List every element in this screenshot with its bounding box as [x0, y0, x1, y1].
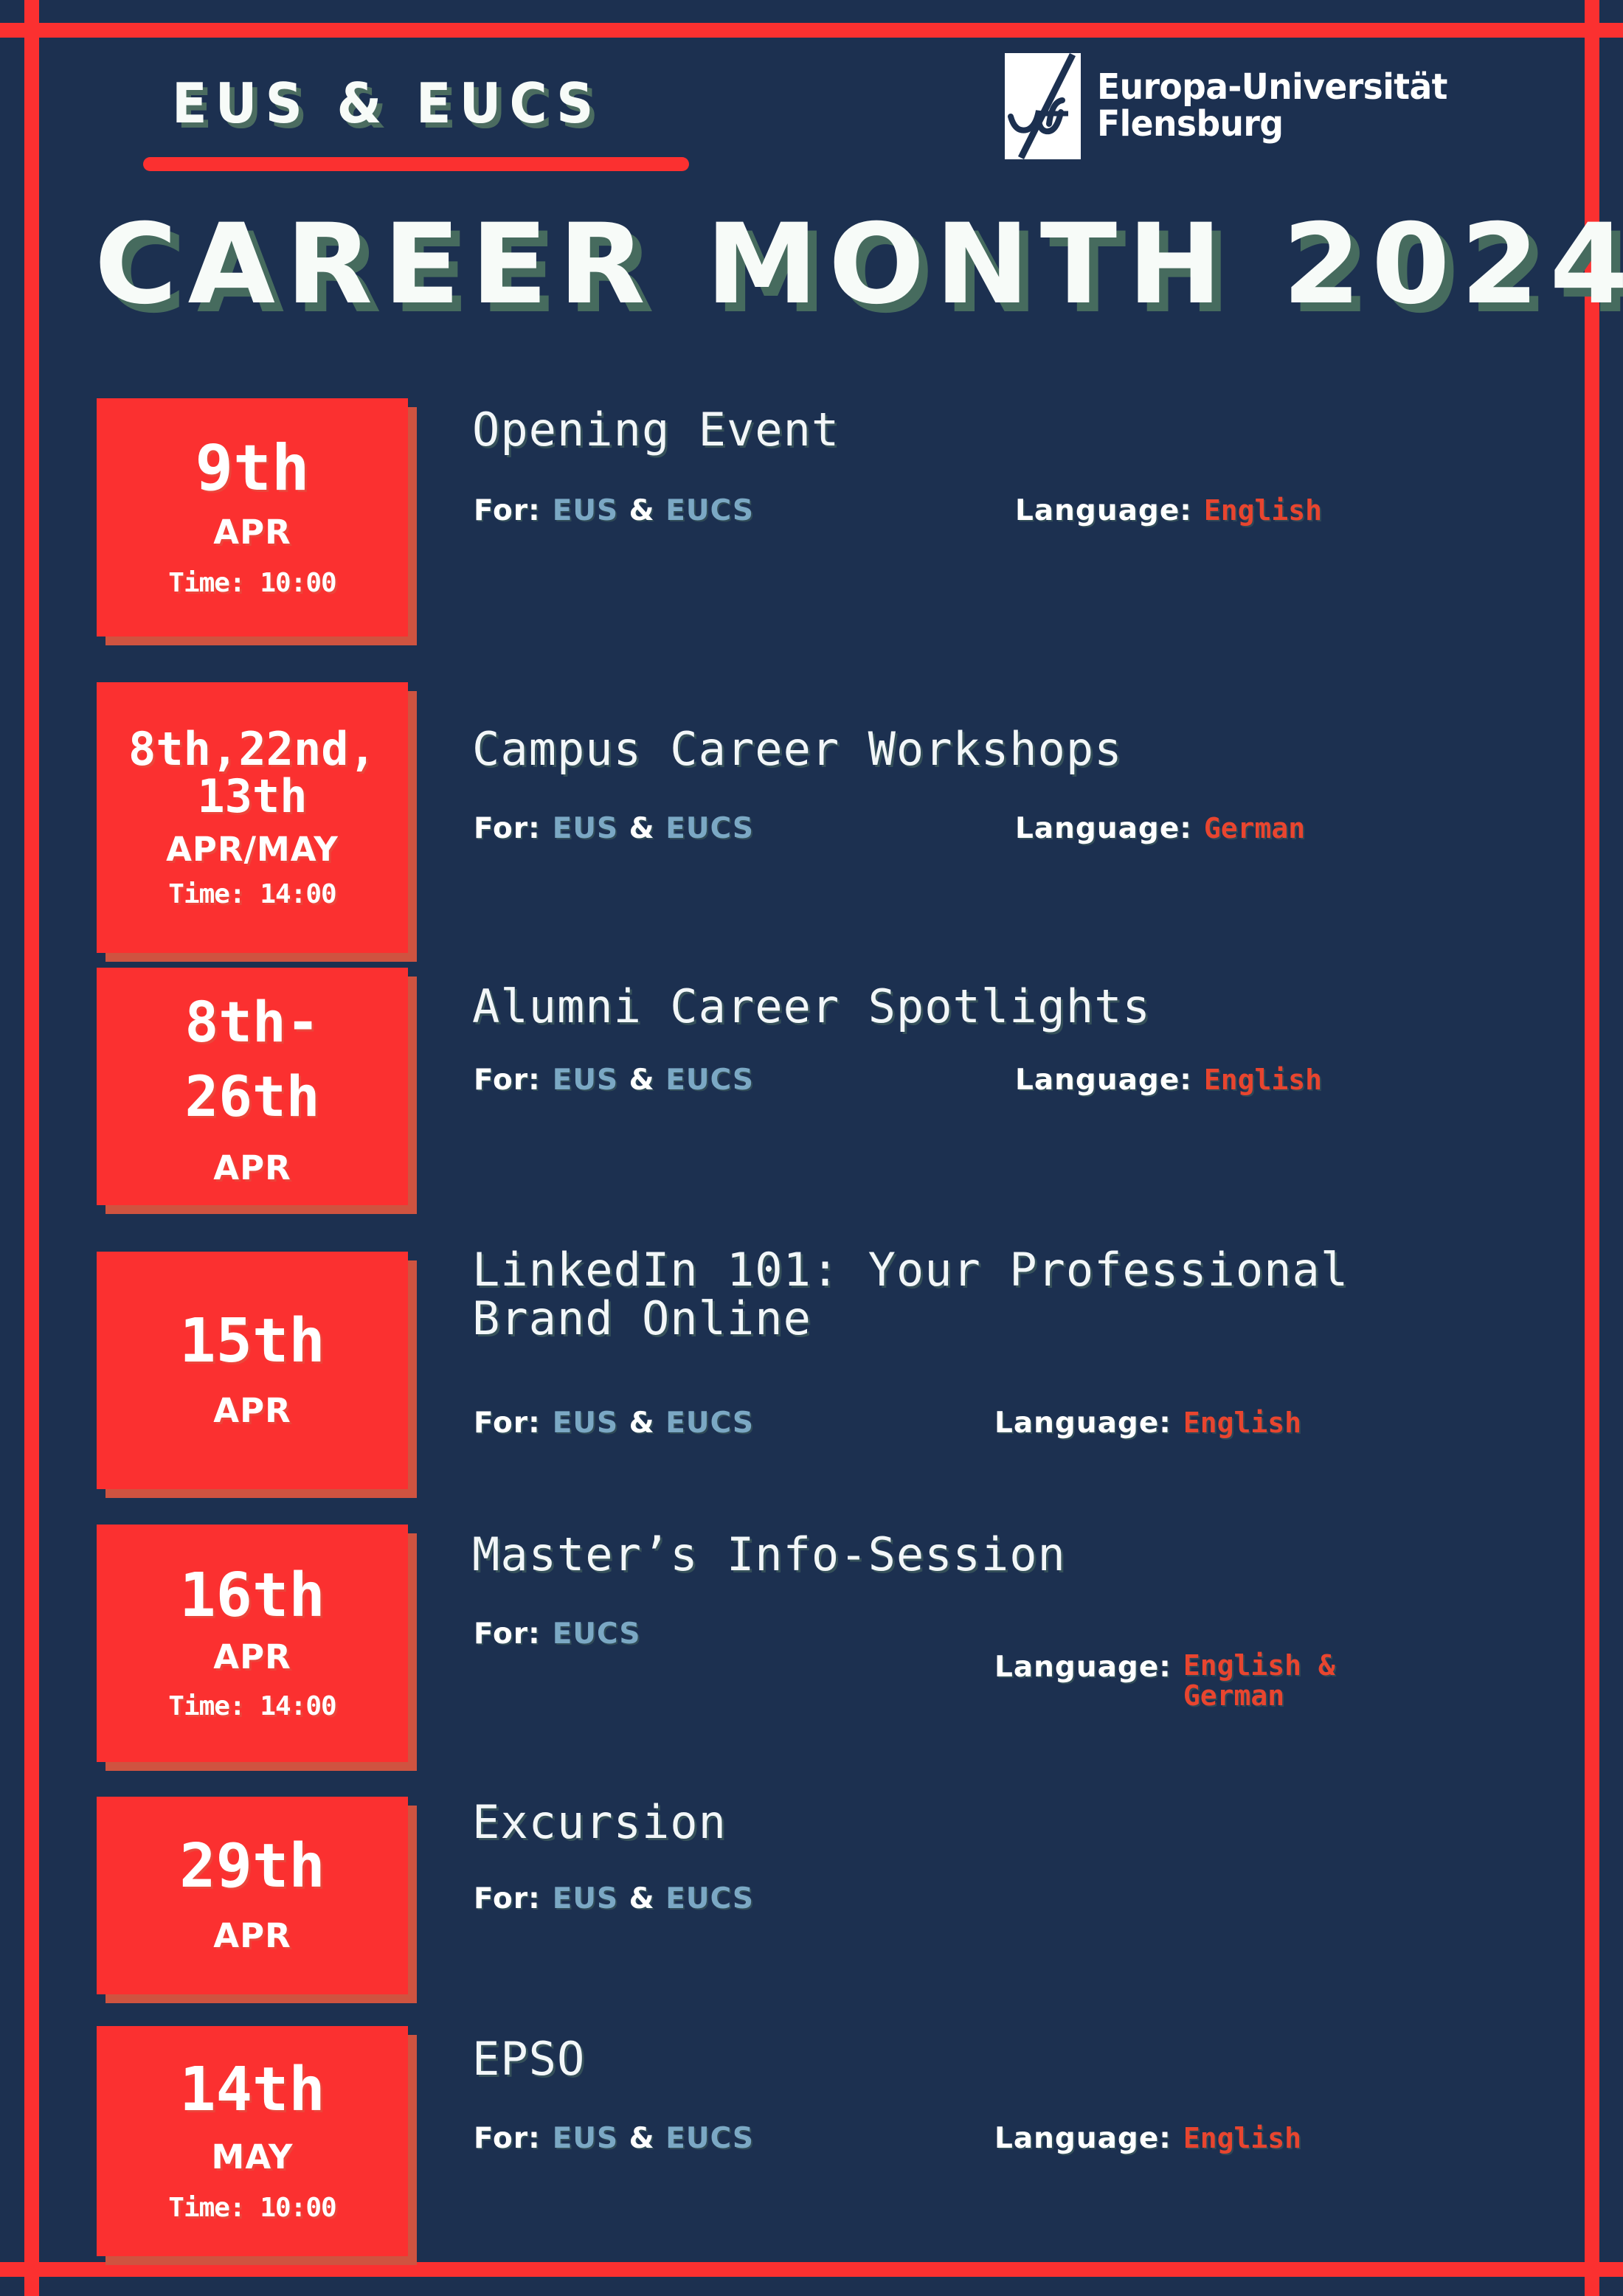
language-label: Language: [994, 2122, 1172, 2155]
language-value: English [1204, 496, 1322, 526]
for-label: For: [474, 1407, 541, 1440]
language-label: Language: [994, 1407, 1172, 1440]
event-body: Excursion For: EUS & EUCS [472, 1798, 1564, 1847]
badge-day: 16th [179, 1565, 325, 1627]
date-badge: 14th MAY Time: 10:00 [97, 2026, 408, 2256]
event-audience: For: EUS & EUCS [474, 1064, 754, 1097]
audience-value: EUS & EUCS [553, 812, 754, 845]
language-value: German [1204, 814, 1305, 844]
event-body: Opening Event For: EUS & EUCS Language: … [472, 406, 1564, 454]
language-label: Language: [994, 1651, 1172, 1684]
language-value: English [1183, 2123, 1301, 2154]
event-language: Language: English [994, 2122, 1301, 2155]
event-body: Campus Career Workshops For: EUS & EUCS … [472, 725, 1564, 774]
event-body: LinkedIn 101: Your Professional Brand On… [472, 1246, 1564, 1342]
event-body: Alumni Career Spotlights For: EUS & EUCS… [472, 982, 1564, 1031]
badge-month: APR [213, 1916, 291, 1955]
badge-month: APR [213, 1637, 291, 1676]
poster-canvas: EUS & EUCS Europa-UniversitätFlensburg C… [0, 0, 1623, 2296]
language-value: English [1183, 1408, 1301, 1438]
badge-day: 29th [179, 1836, 325, 1898]
audience-value: EUS & EUCS [553, 1882, 754, 1915]
event-title: Opening Event [472, 406, 1564, 454]
badge-day: 8th,22nd, 13th [128, 726, 376, 819]
audience-value: EUS & EUCS [553, 2122, 754, 2155]
badge-month: APR [213, 513, 291, 552]
event-audience: For: EUCS [474, 1617, 640, 1651]
for-label: For: [474, 1064, 541, 1097]
event-language: Language: English [994, 1407, 1301, 1440]
language-value: English & German [1183, 1651, 1335, 1711]
date-badge: 16th APR Time: 14:00 [97, 1525, 408, 1762]
event-audience: For: EUS & EUCS [474, 2122, 754, 2155]
badge-day: 9th [195, 437, 309, 502]
audience-value: EUS & EUCS [553, 1407, 754, 1440]
event-language: Language: English & German [994, 1651, 1335, 1711]
language-value: English [1204, 1065, 1322, 1095]
badge-day: 8th- 26th [184, 985, 319, 1134]
badge-time: Time: 10:00 [168, 2193, 336, 2223]
for-label: For: [474, 1882, 541, 1915]
badge-day: 15th [179, 1311, 325, 1373]
language-label: Language: [1015, 494, 1192, 527]
for-label: For: [474, 1617, 541, 1651]
for-label: For: [474, 812, 541, 845]
badge-month: APR [213, 1148, 291, 1187]
event-body: Master’s Info-Session For: EUCS Language… [472, 1530, 1564, 1579]
badge-time: Time: 14:00 [168, 879, 336, 909]
for-label: For: [474, 494, 541, 527]
badge-month: APR/MAY [166, 830, 339, 869]
event-title: Master’s Info-Session [472, 1530, 1564, 1579]
event-audience: For: EUS & EUCS [474, 1882, 754, 1915]
event-title: LinkedIn 101: Your Professional Brand On… [472, 1246, 1564, 1342]
event-language: Language: English [1015, 1064, 1322, 1097]
date-badge: 8th,22nd, 13th APR/MAY Time: 14:00 [97, 682, 408, 953]
events-list: 9th APR Time: 10:00 Opening Event For: E… [0, 0, 1623, 2296]
event-title: Alumni Career Spotlights [472, 982, 1564, 1031]
badge-time: Time: 10:00 [168, 568, 336, 598]
event-title: Excursion [472, 1798, 1564, 1847]
audience-value: EUS & EUCS [553, 494, 754, 527]
language-label: Language: [1015, 812, 1192, 845]
date-badge: 29th APR [97, 1797, 408, 1994]
event-language: Language: German [1015, 812, 1305, 845]
event-audience: For: EUS & EUCS [474, 494, 754, 527]
badge-time: Time: 14:00 [168, 1691, 336, 1721]
event-audience: For: EUS & EUCS [474, 1407, 754, 1440]
audience-value: EUCS [553, 1617, 641, 1651]
for-label: For: [474, 2122, 541, 2155]
audience-value: EUS & EUCS [553, 1064, 754, 1097]
date-badge: 9th APR Time: 10:00 [97, 398, 408, 637]
event-language: Language: English [1015, 494, 1322, 527]
date-badge: 8th- 26th APR [97, 968, 408, 1205]
language-label: Language: [1015, 1064, 1192, 1097]
event-title: Campus Career Workshops [472, 725, 1564, 774]
event-audience: For: EUS & EUCS [474, 812, 754, 845]
badge-day: 14th [179, 2059, 325, 2121]
event-body: EPSO For: EUS & EUCS Language: English [472, 2035, 1564, 2084]
badge-month: MAY [212, 2137, 294, 2177]
badge-month: APR [213, 1391, 291, 1430]
event-title: EPSO [472, 2035, 1564, 2084]
date-badge: 15th APR [97, 1252, 408, 1489]
